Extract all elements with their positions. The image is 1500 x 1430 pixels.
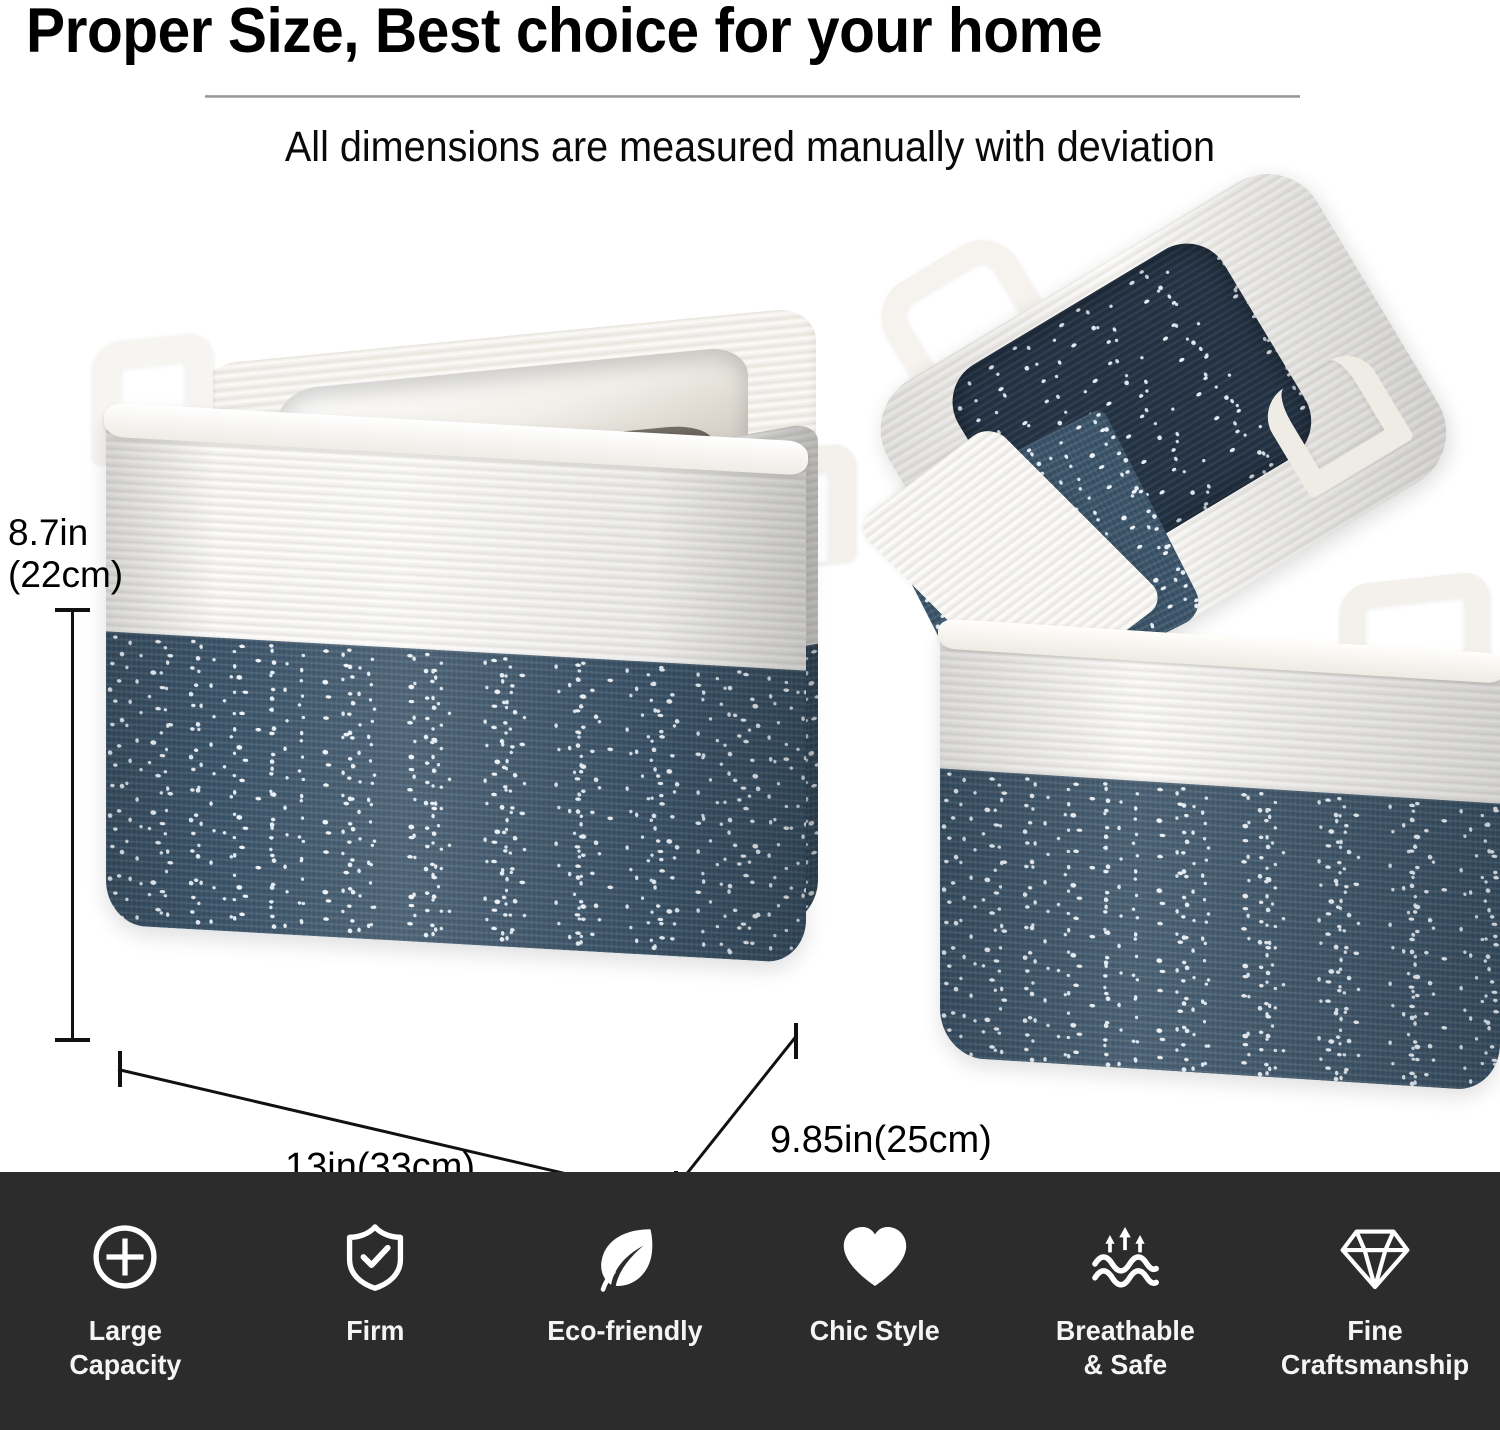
dimension-line-depth [674,1035,798,1189]
title-divider [205,95,1300,98]
feature-label: Breathable & Safe [1056,1314,1195,1382]
feature-bar: Large Capacity Firm Eco-friendly Chic St… [0,1172,1500,1430]
feature-list: Large Capacity Firm Eco-friendly Chic St… [0,1172,1500,1430]
feature-label: Chic Style [810,1314,940,1348]
feature-label: Eco-friendly [547,1314,702,1348]
dimension-line-height [71,608,74,1042]
feature-eco-friendly: Eco-friendly [500,1172,750,1348]
basket-upright-body [940,624,1500,1091]
feature-label: Firm [346,1314,404,1348]
leaf-icon [588,1220,662,1294]
basket-upright-shading [940,624,1500,1091]
dimension-cap-width-left [118,1051,122,1087]
basket-upright [940,590,1500,1090]
feature-chic-style: Chic Style [750,1172,1000,1348]
dimension-cap-depth-top [794,1023,798,1059]
breathable-waves-icon [1088,1220,1162,1294]
diamond-icon [1338,1220,1412,1294]
page-title: Proper Size, Best choice for your home [26,0,1384,64]
shield-check-icon [338,1220,412,1294]
dimension-label-height: 8.7in (22cm) [8,512,123,596]
dimension-cap-height-top [55,608,90,612]
basket-main-blue-band [106,631,806,963]
basket-main-front-face [106,406,806,963]
dimension-cap-height-bottom [55,1038,90,1042]
feature-label: Large Capacity [69,1314,181,1382]
product-image-stage: 8.7in (22cm) 13in(33cm) 9.85in(25cm) [0,190,1500,1172]
feature-fine-craftsmanship: Fine Craftsmanship [1250,1172,1500,1382]
feature-large-capacity: Large Capacity [0,1172,250,1382]
feature-label: Fine Craftsmanship [1281,1314,1469,1382]
feature-firm: Firm [250,1172,500,1348]
heart-icon [838,1220,912,1294]
basket-main [78,330,868,970]
dimension-label-depth: 9.85in(25cm) [770,1118,992,1162]
circle-plus-icon [88,1220,162,1294]
feature-breathable-safe: Breathable & Safe [1000,1172,1250,1382]
